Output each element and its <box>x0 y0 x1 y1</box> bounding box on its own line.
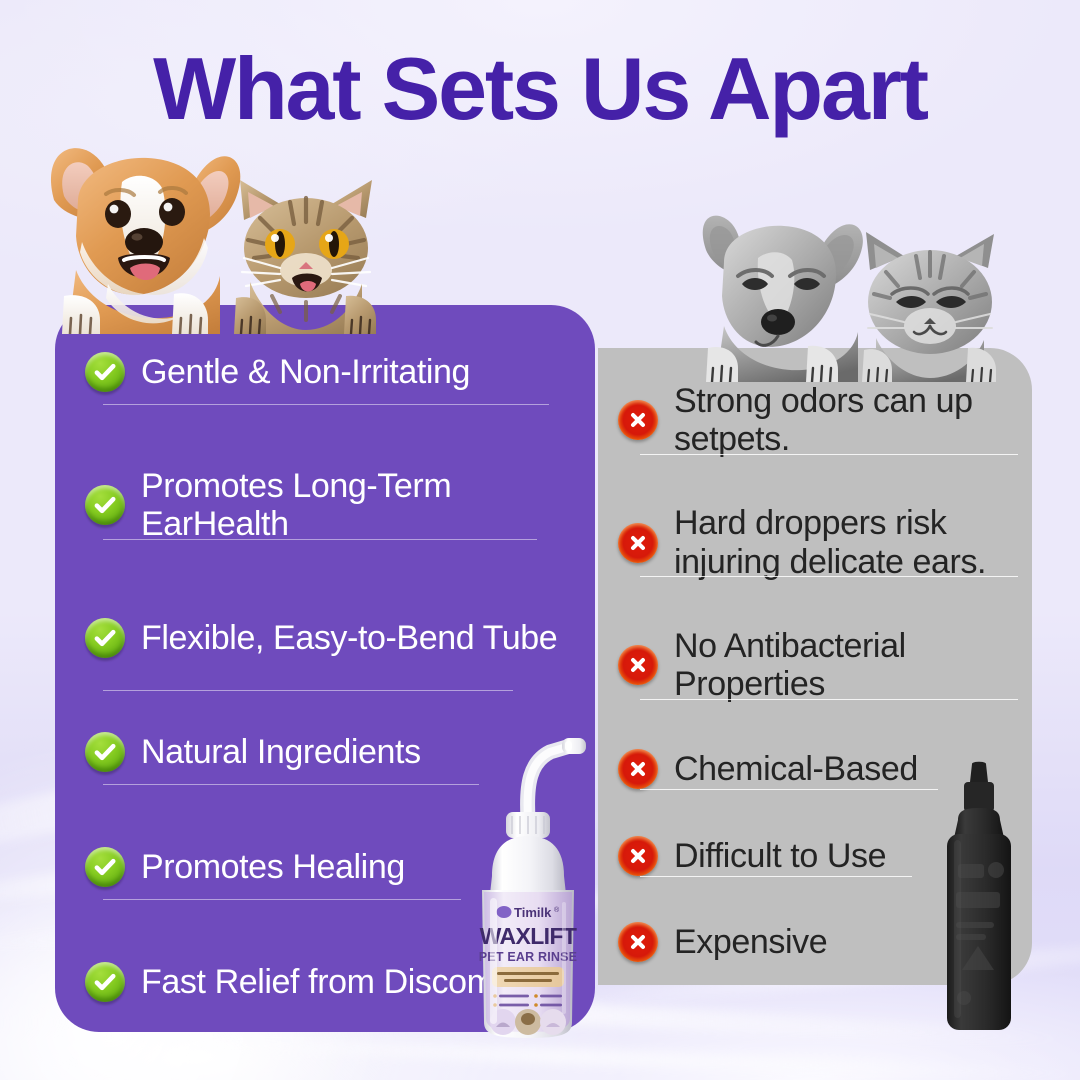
cross-circle-icon <box>618 523 658 563</box>
list-divider <box>640 454 1018 455</box>
cross-circle-icon <box>618 749 658 789</box>
check-circle-icon <box>85 847 125 887</box>
cons-list-item: Expensive <box>618 922 1018 962</box>
list-divider <box>640 876 912 877</box>
page-title: What Sets Us Apart <box>0 38 1080 140</box>
list-divider <box>103 784 479 785</box>
cross-circle-icon <box>618 836 658 876</box>
background-swoosh <box>120 1033 1080 1080</box>
pros-list-item: Promotes Healing <box>85 847 577 887</box>
cons-item-label: No Antibacterial Properties <box>674 627 1018 703</box>
list-divider <box>103 404 549 405</box>
pros-list-item: Fast Relief from Discomfort <box>85 962 577 1002</box>
cons-item-label: Hard droppers risk injuring delicate ear… <box>674 504 1018 580</box>
cons-list: Strong odors can up setpets. Hard droppe… <box>618 382 1018 962</box>
check-circle-icon <box>85 962 125 1002</box>
check-circle-icon <box>85 352 125 392</box>
pros-list-item: Flexible, Easy-to-Bend Tube <box>85 618 577 658</box>
list-divider <box>103 539 537 540</box>
cons-item-label: Difficult to Use <box>674 837 886 875</box>
cons-item-label: Chemical-Based <box>674 750 918 788</box>
infographic-canvas: What Sets Us Apart <box>0 0 1080 1080</box>
pros-item-label: Fast Relief from Discomfort <box>141 963 542 1001</box>
pros-list-item: Natural Ingredients <box>85 732 577 772</box>
cons-item-label: Expensive <box>674 923 827 961</box>
list-divider <box>640 576 1018 577</box>
pros-item-label: Promotes Long-Term EarHealth <box>141 467 577 543</box>
pros-list: Gentle & Non-Irritating Promotes Long-Te… <box>85 352 577 1002</box>
cons-list-item: Strong odors can up setpets. <box>618 382 1018 458</box>
pros-item-label: Promotes Healing <box>141 848 405 886</box>
list-divider <box>640 699 1018 700</box>
list-divider <box>103 690 513 691</box>
pros-list-item: Gentle & Non-Irritating <box>85 352 577 392</box>
cross-circle-icon <box>618 645 658 685</box>
check-circle-icon <box>85 485 125 525</box>
pros-item-label: Gentle & Non-Irritating <box>141 353 470 391</box>
pros-item-label: Flexible, Easy-to-Bend Tube <box>141 619 557 657</box>
cons-list-item: No Antibacterial Properties <box>618 627 1018 703</box>
pros-list-item: Promotes Long-Term EarHealth <box>85 467 577 543</box>
list-divider <box>103 899 461 900</box>
check-circle-icon <box>85 618 125 658</box>
pros-item-label: Natural Ingredients <box>141 733 421 771</box>
list-divider <box>640 789 938 790</box>
cons-list-item: Hard droppers risk injuring delicate ear… <box>618 504 1018 580</box>
cross-circle-icon <box>618 922 658 962</box>
cons-list-item: Chemical-Based <box>618 749 1018 789</box>
cons-list-item: Difficult to Use <box>618 836 1018 876</box>
cross-circle-icon <box>618 400 658 440</box>
cons-item-label: Strong odors can up setpets. <box>674 382 1018 458</box>
check-circle-icon <box>85 732 125 772</box>
